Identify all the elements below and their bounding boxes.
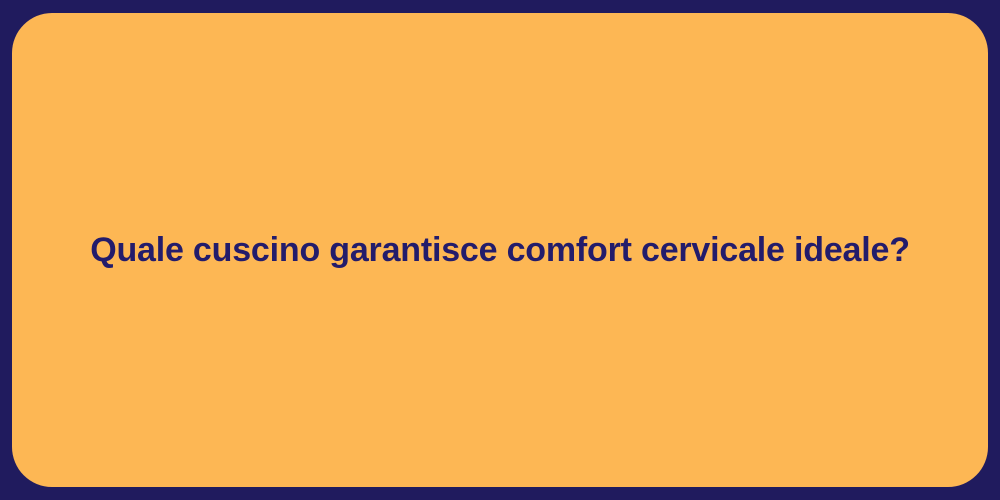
screenshot-canvas: Quale cuscino garantisce comfort cervica…	[0, 0, 1000, 500]
question-title: Quale cuscino garantisce comfort cervica…	[90, 229, 910, 272]
question-card: Quale cuscino garantisce comfort cervica…	[12, 13, 988, 487]
